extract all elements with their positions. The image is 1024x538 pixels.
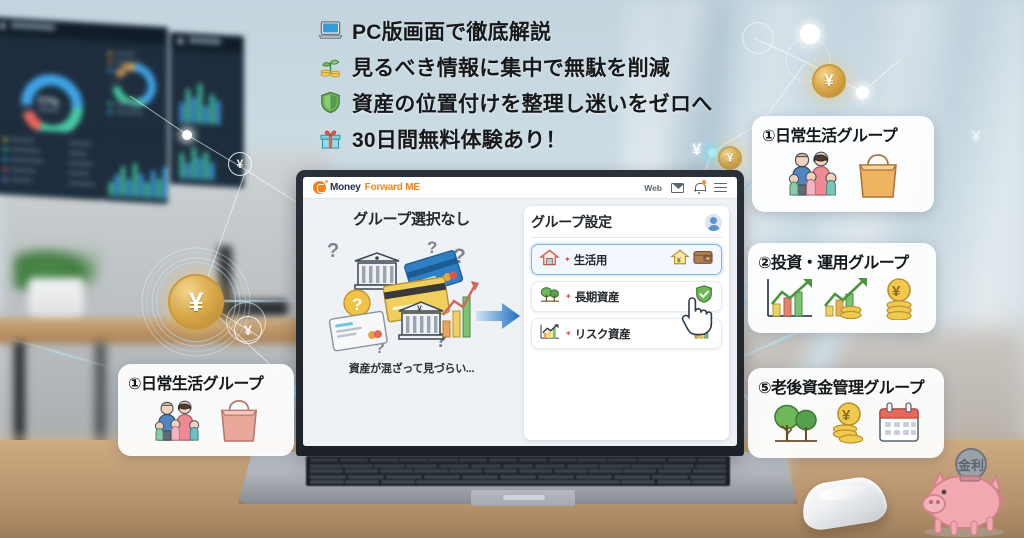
laptop: Money Forward ME Web: [238, 170, 798, 500]
yen-coin-stack-icon: ¥: [879, 276, 919, 325]
piggy-bank-icon: 金利: [908, 448, 1018, 538]
monitor-side: [170, 32, 244, 188]
seedling-coins-icon: [318, 54, 343, 79]
svg-text:¥: ¥: [677, 255, 681, 264]
money-forward-logo-icon: [313, 181, 326, 194]
house-icon: [539, 248, 560, 272]
family-icon: [787, 149, 849, 204]
laptop-keyboard[interactable]: [306, 456, 730, 486]
svg-text:?: ?: [427, 238, 437, 257]
headline-bullet: PC版画面で徹底解説: [318, 14, 718, 47]
family-icon: [153, 398, 211, 448]
svg-text:¥: ¥: [892, 283, 901, 300]
svg-text:¥: ¥: [842, 407, 851, 424]
gift-icon: [318, 126, 343, 151]
app-header: Money Forward ME Web: [303, 177, 737, 199]
brand-primary: Money: [330, 182, 361, 193]
callout-investment: ②投資・運用グループ: [748, 243, 936, 333]
divider: [531, 237, 722, 238]
coin-label: 金利: [957, 458, 984, 473]
house-yen-icon: ¥: [670, 248, 690, 271]
monitor-main: 77%: [0, 17, 168, 203]
callout-title: ②投資・運用グループ: [758, 249, 926, 273]
shopping-bag-icon: [856, 151, 900, 204]
group-label: リスク資産: [575, 326, 631, 342]
chart-up-icon: [539, 322, 561, 345]
yen-coin-stack-icon: ¥: [829, 401, 869, 450]
right-arrow-icon: [476, 301, 522, 331]
notification-badge: [702, 180, 707, 185]
headline-text: 資産の位置付けを整理し迷いをゼロへ: [352, 88, 712, 118]
svg-text:¥: ¥: [417, 304, 422, 314]
headline-text: PC版画面で徹底解説: [352, 16, 551, 46]
callout-daily-life-right: ①日常生活グループ: [752, 116, 934, 212]
envelope-icon[interactable]: [671, 183, 684, 193]
callout-daily-life-left: ①日常生活グループ: [118, 364, 294, 456]
hand-pointer-icon: [678, 295, 714, 339]
star-icon: ✦: [565, 329, 572, 338]
svg-text:?: ?: [327, 240, 339, 262]
trees-icon: [539, 285, 561, 308]
laptop-latch: [503, 495, 545, 500]
brand-secondary: Forward ME: [365, 182, 420, 193]
callout-title: ①日常生活グループ: [762, 122, 924, 146]
web-label[interactable]: Web: [644, 183, 662, 193]
bar-chart: [109, 158, 167, 199]
group-label: 長期資産: [575, 289, 619, 305]
app-logo[interactable]: Money Forward ME: [313, 181, 420, 194]
shield-icon: [318, 90, 343, 115]
mixed-assets-illustration: ? ? ? ? ?: [323, 235, 501, 359]
card-header: グループ設定: [531, 212, 722, 232]
svg-text:?: ?: [352, 295, 362, 314]
background-dashboard-monitors: 77%: [0, 18, 244, 214]
headline-bullet: 30日間無料体験あり！: [318, 122, 718, 155]
headline-text: 見るべき情報に集中で無駄を削減: [352, 52, 670, 82]
callout-retirement: ⑤老後資金管理グループ ¥: [748, 368, 944, 458]
group-item-living[interactable]: ✦ 生活用 ¥: [531, 244, 722, 275]
callout-title: ①日常生活グループ: [128, 370, 284, 394]
headline-bullet: 資産の位置付けを整理し迷いをゼロへ: [318, 86, 718, 119]
card-title: グループ設定: [531, 212, 612, 232]
chart-up-icon: [765, 276, 815, 325]
headline-bullet-list: PC版画面で徹底解説 見るべき情報に集中で無駄を削減: [318, 14, 718, 155]
star-icon: ✦: [564, 255, 571, 264]
chart-coins-icon: [822, 276, 872, 325]
callout-title: ⑤老後資金管理グループ: [758, 374, 934, 398]
star-icon: ✦: [565, 292, 572, 301]
pane-note: 資産が混ざって見づらい...: [349, 360, 474, 376]
headline-text: 30日間無料体験あり！: [352, 124, 567, 154]
wallet-icon: [692, 248, 714, 271]
shopping-bag-icon: [218, 397, 260, 448]
group-label: 生活用: [574, 252, 607, 268]
bell-icon[interactable]: [693, 181, 705, 194]
calendar-icon: [876, 401, 922, 450]
pane-title: グループ選択なし: [353, 208, 470, 229]
user-avatar-icon[interactable]: [705, 214, 722, 231]
trees-icon: [770, 401, 822, 450]
headline-bullet: 見るべき情報に集中で無駄を削減: [318, 50, 718, 83]
hamburger-menu-icon[interactable]: [714, 183, 727, 192]
laptop-icon: [318, 18, 343, 43]
infographic-canvas: 77%: [0, 0, 1024, 538]
